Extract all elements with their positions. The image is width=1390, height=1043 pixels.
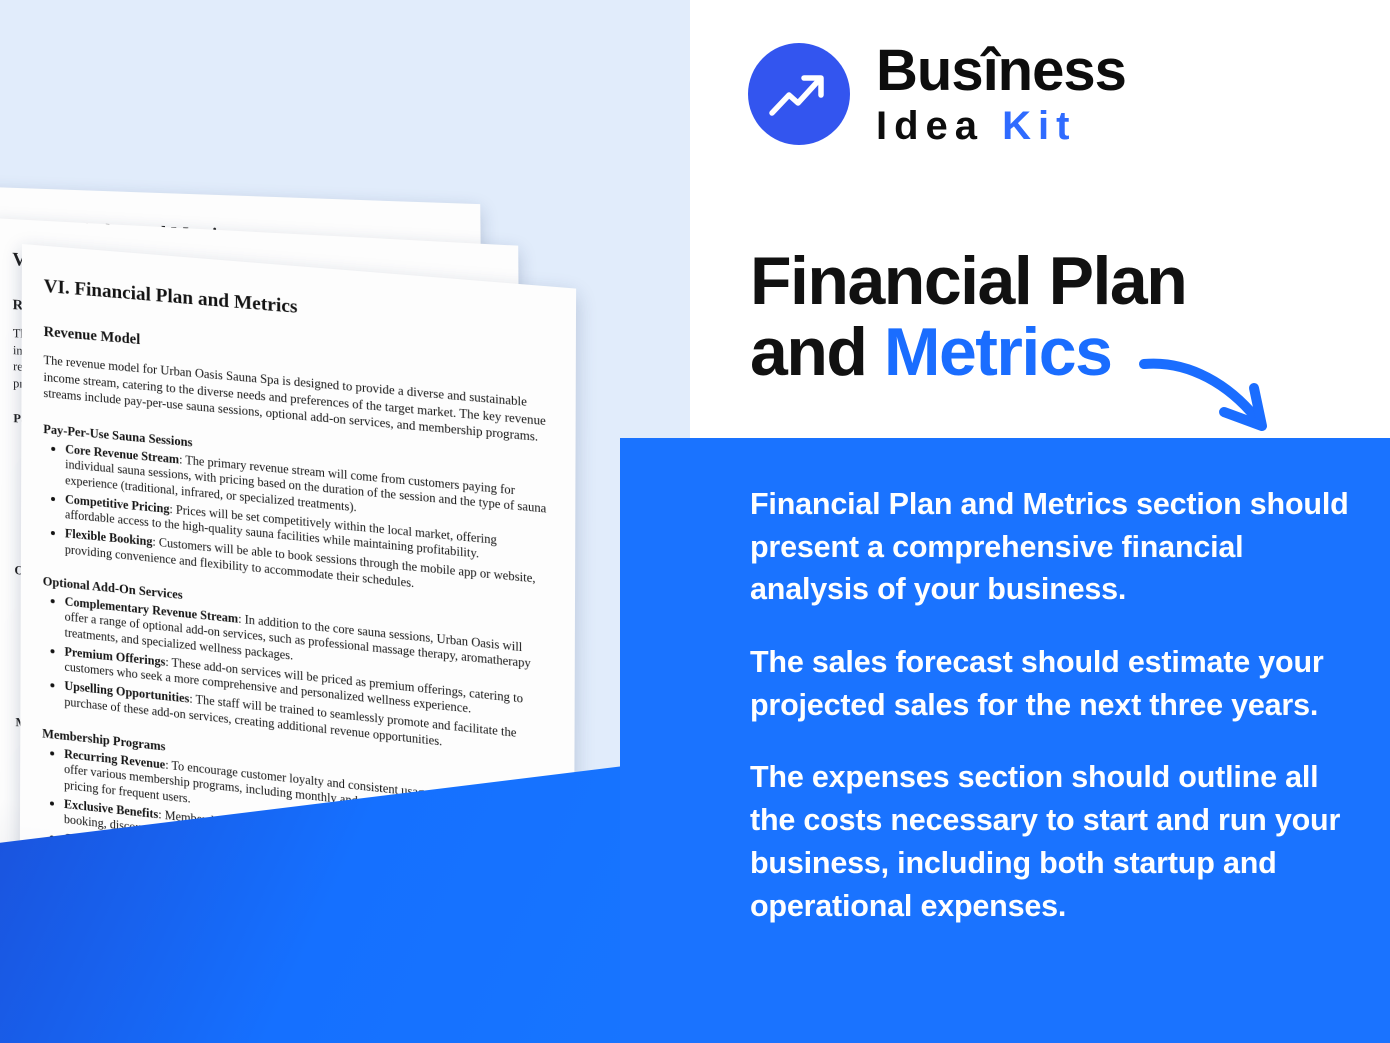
brand-logo[interactable]: Busîness Idea Kit xyxy=(748,42,1126,146)
curved-arrow-down-right-icon xyxy=(1138,352,1288,440)
growth-chart-circle-icon xyxy=(748,43,850,145)
panel-paragraph-2: The sales forecast should estimate your … xyxy=(750,641,1350,726)
panel-paragraph-1: Financial Plan and Metrics section shoul… xyxy=(750,483,1350,611)
panel-description: Financial Plan and Metrics section shoul… xyxy=(750,483,1350,927)
slide-canvas: VI. Financial Plan and Metrics Revenue M… xyxy=(0,0,1390,1043)
brand-line-idea-kit: Idea Kit xyxy=(876,106,1126,146)
headline-word-and: and xyxy=(750,314,866,390)
brand-word-idea: Idea xyxy=(876,104,984,148)
panel-paragraph-3: The expenses section should outline all … xyxy=(750,756,1350,927)
headline-word-metrics: Metrics xyxy=(884,314,1112,390)
brand-word-kit: Kit xyxy=(1002,104,1076,148)
brand-line-business: Busîness xyxy=(876,42,1126,100)
headline-line-1: Financial Plan xyxy=(750,246,1310,317)
brand-wordmark: Busîness Idea Kit xyxy=(876,42,1126,146)
